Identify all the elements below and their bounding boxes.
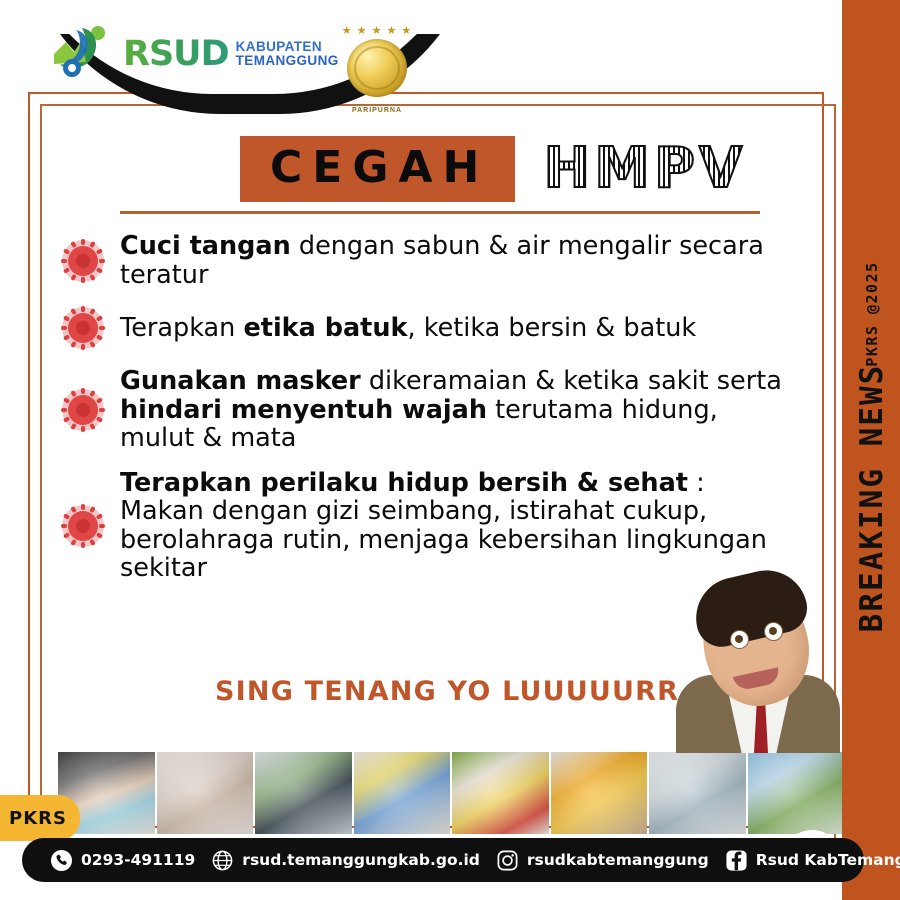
logo-sub-line-1: KABUPATEN <box>236 40 339 54</box>
logo-sub-text: KABUPATEN TEMANGGUNG <box>236 40 339 68</box>
contact-phone[interactable]: 0293-491119 <box>50 849 195 872</box>
photo-outdoor-exercise <box>255 752 352 834</box>
tip-emphasis: Terapkan perilaku hidup bersih & sehat <box>120 468 688 498</box>
tip-plain: dikeramaian & ketika sakit serta <box>361 366 782 396</box>
breaking-news-band: BREAKING NEWS PKRS @2025 <box>842 0 900 900</box>
instagram-icon <box>496 849 519 872</box>
hospital-logo-icon <box>52 24 114 84</box>
poster-canvas: RSUD KABUPATEN TEMANGGUNG ★ ★ ★ ★ ★ PARI… <box>0 0 900 900</box>
website-url: rsud.temanggungkab.go.id <box>242 851 480 869</box>
facebook-name: Rsud KabTemanggung <box>756 851 900 869</box>
pkrs-tab: PKRS <box>0 795 80 841</box>
tip-text: Terapkan perilaku hidup bersih & sehat :… <box>120 469 790 583</box>
tip-plain: Terapkan <box>120 313 243 343</box>
contact-facebook[interactable]: Rsud KabTemanggung <box>725 849 900 872</box>
tip-emphasis: Cuci tangan <box>120 231 291 261</box>
photo-strip <box>58 752 844 834</box>
mascot-photo <box>668 568 848 753</box>
photo-cleaning-home <box>354 752 451 834</box>
medal-stars: ★ ★ ★ ★ ★ <box>335 26 419 37</box>
phone-icon <box>50 849 73 872</box>
contact-footer: 0293-491119 rsud.temanggungkab.go.id rsu… <box>22 838 864 882</box>
medal-label: PARIPURNA <box>335 107 419 114</box>
virus-icon <box>60 387 106 433</box>
logo-main-text: RSUD <box>123 37 229 72</box>
rsud-logo: RSUD KABUPATEN TEMANGGUNG <box>52 24 339 84</box>
title-divider <box>120 211 760 214</box>
poster-title: CEGAH HMPV <box>240 136 746 202</box>
tip-item: Cuci tangan dengan sabun & air mengalir … <box>60 232 790 289</box>
tip-plain: , ketika bersin & batuk <box>408 313 697 343</box>
tip-item: Terapkan perilaku hidup bersih & sehat :… <box>60 469 790 583</box>
contact-instagram[interactable]: rsudkabtemanggung <box>496 849 709 872</box>
logo-wordmark: RSUD KABUPATEN TEMANGGUNG <box>123 37 339 72</box>
title-subject: HMPV <box>543 141 746 197</box>
pkrs-tab-label: PKRS <box>0 808 67 829</box>
virus-icon <box>60 305 106 351</box>
title-highlight-box: CEGAH <box>240 136 515 202</box>
tagline-text: SING TENANG YO LUUUUURR.... <box>215 676 725 707</box>
tip-text: Terapkan etika batuk, ketika bersin & ba… <box>120 314 696 343</box>
logo-sub-line-2: TEMANGGUNG <box>236 54 339 68</box>
virus-icon <box>60 238 106 284</box>
photo-orange-juice <box>551 752 648 834</box>
photo-hand-washing <box>649 752 746 834</box>
poster-header: RSUD KABUPATEN TEMANGGUNG ★ ★ ★ ★ ★ PARI… <box>0 0 842 120</box>
mascot-eye-left <box>730 630 749 649</box>
contact-website[interactable]: rsud.temanggungkab.go.id <box>211 849 480 872</box>
virus-icon <box>60 503 106 549</box>
tip-item: Terapkan etika batuk, ketika bersin & ba… <box>60 305 790 351</box>
photo-healthy-salad <box>452 752 549 834</box>
tip-emphasis: hindari menyentuh wajah <box>120 395 487 425</box>
instagram-handle: rsudkabtemanggung <box>527 851 709 869</box>
mascot-eye-right <box>764 622 783 641</box>
tip-emphasis: Gunakan masker <box>120 366 361 396</box>
globe-icon <box>211 849 234 872</box>
tips-list: Cuci tangan dengan sabun & air mengalir … <box>60 232 790 599</box>
tip-text: Cuci tangan dengan sabun & air mengalir … <box>120 232 790 289</box>
tip-item: Gunakan masker dikeramaian & ketika saki… <box>60 367 790 453</box>
photo-sleeping-rest <box>157 752 254 834</box>
accreditation-medal-icon: ★ ★ ★ ★ ★ PARIPURNA <box>335 26 419 114</box>
photo-outdoor-activity <box>748 752 845 834</box>
phone-number: 0293-491119 <box>81 851 195 869</box>
tip-text: Gunakan masker dikeramaian & ketika saki… <box>120 367 790 453</box>
pkrs-credit-text: PKRS @2025 <box>863 204 881 424</box>
tip-emphasis: etika batuk <box>243 313 407 343</box>
medal-disc <box>347 39 407 97</box>
facebook-icon <box>725 849 748 872</box>
